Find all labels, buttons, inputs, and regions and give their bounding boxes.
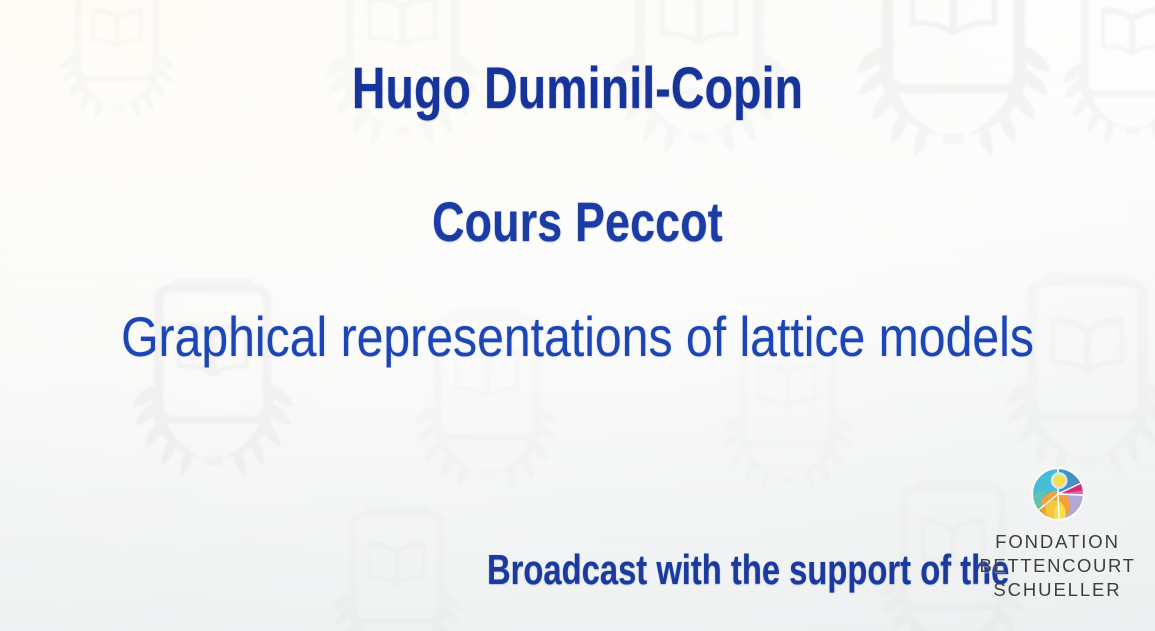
fondation-bettencourt-schueller-emblem-icon	[1030, 466, 1086, 522]
speaker-name: Hugo Duminil-Copin	[116, 58, 1040, 120]
sponsor-name-line-1: FONDATION	[960, 530, 1155, 554]
sponsor-logo: FONDATION BETTENCOURT SCHUELLER	[960, 462, 1155, 631]
sponsor-name-line-2: BETTENCOURT	[960, 554, 1155, 578]
sponsor-name-line-3: SCHUELLER	[960, 578, 1155, 602]
broadcast-credit-text: Broadcast with the support of the	[487, 547, 1009, 593]
course-name: Cours Peccot	[116, 192, 1040, 252]
title-card-slide: Hugo Duminil-Copin Cours Peccot Graphica…	[0, 0, 1155, 631]
lecture-subject-title: Graphical representations of lattice mod…	[81, 306, 1074, 368]
